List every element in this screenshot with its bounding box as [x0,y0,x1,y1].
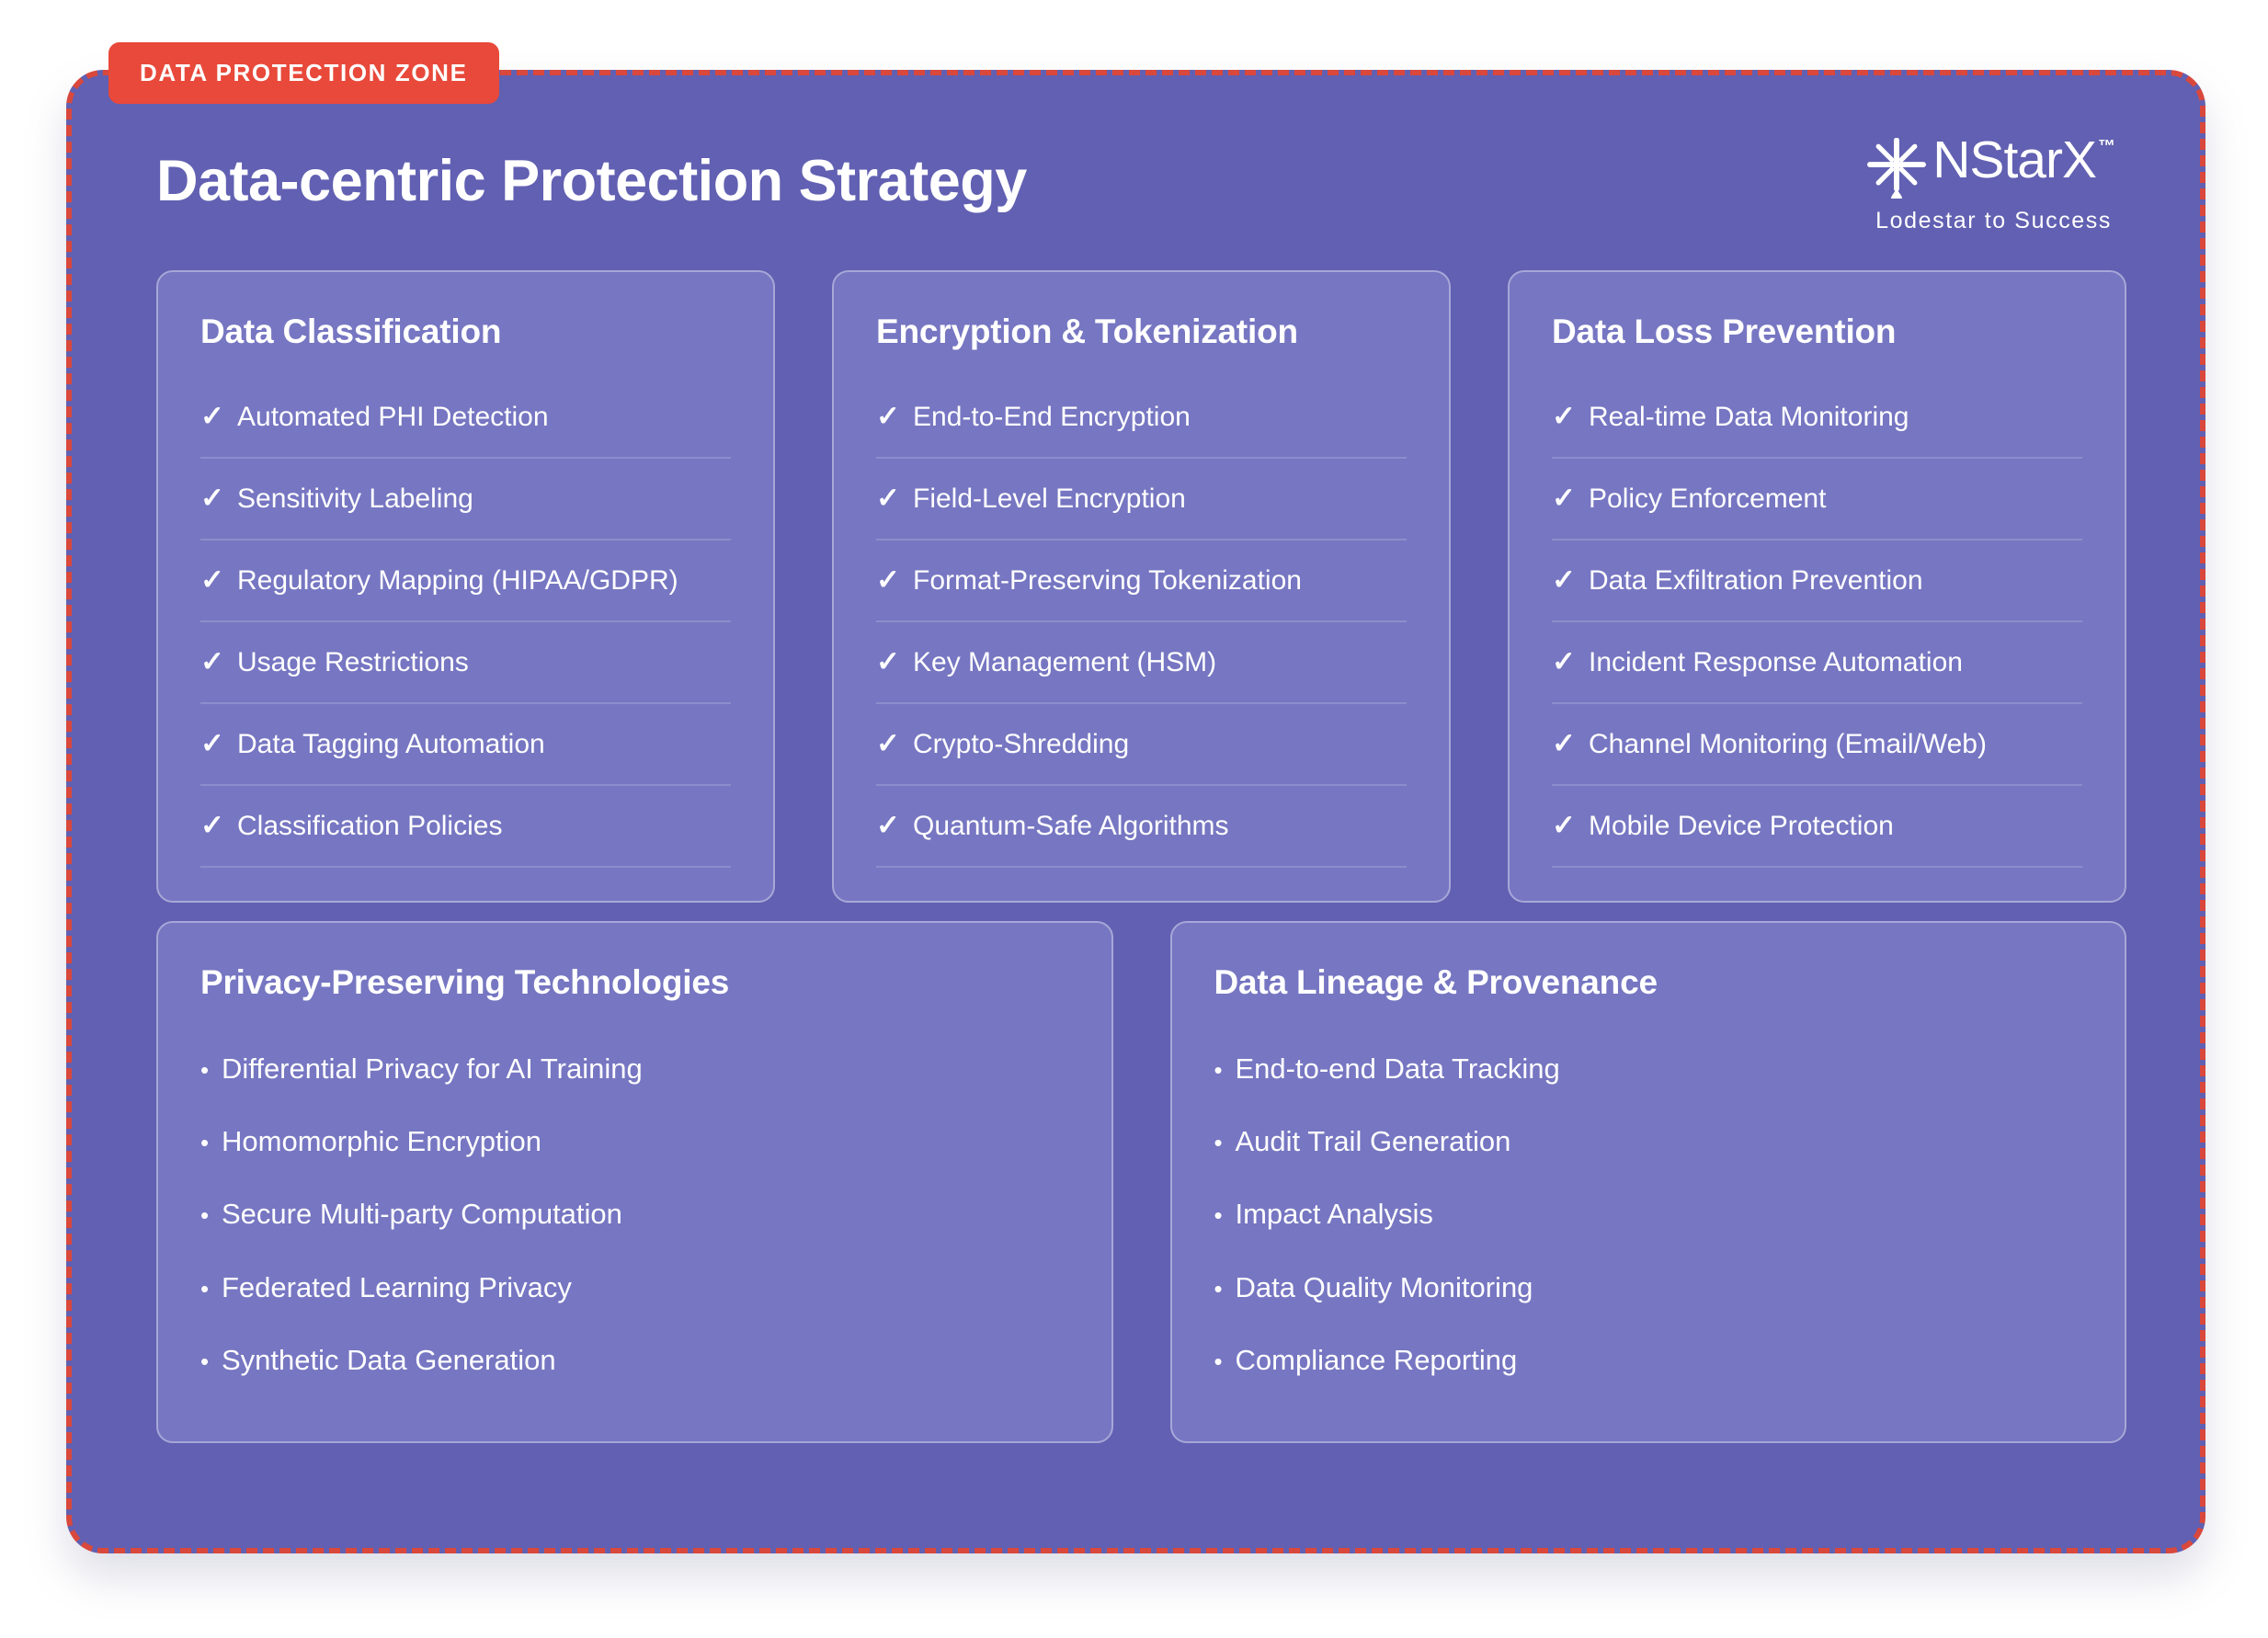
list-item: ✓ Field-Level Encryption [876,481,1407,540]
list-item-label: Real-time Data Monitoring [1589,401,1909,434]
list-item: • Homomorphic Encryption [200,1124,1069,1158]
bullet-icon: • [200,1058,222,1082]
list-item-label: Incident Response Automation [1589,646,1963,679]
droplet-icon [1891,188,1902,199]
check-icon: ✓ [200,726,237,760]
check-icon: ✓ [1552,399,1589,433]
check-icon: ✓ [200,481,237,515]
bullet-icon: • [1214,1349,1236,1373]
check-icon: ✓ [876,481,913,515]
check-icon: ✓ [876,563,913,597]
list-item-label: End-to-End Encryption [913,401,1191,434]
list-item-label: Format-Preserving Tokenization [913,564,1302,597]
starburst-icon [1866,138,1927,199]
bottom-card-grid: Privacy-Preserving Technologies • Differ… [156,921,2126,1443]
list-item: ✓ Usage Restrictions [200,644,731,704]
list-item: • End-to-end Data Tracking [1214,1052,2083,1086]
feature-list: ✓ Real-time Data Monitoring ✓ Policy Enf… [1552,399,2082,868]
list-item-label: Field-Level Encryption [913,483,1186,516]
logo-wordmark-row: NStarX ™ [1866,134,2115,199]
card-title: Data Loss Prevention [1552,313,2082,351]
card-title: Data Classification [200,313,731,351]
check-icon: ✓ [200,399,237,433]
list-item: ✓ Format-Preserving Tokenization [876,563,1407,622]
list-item: ✓ Classification Policies [200,808,731,868]
list-item: ✓ Quantum-Safe Algorithms [876,808,1407,868]
bullet-icon: • [200,1277,222,1301]
list-item-label: Regulatory Mapping (HIPAA/GDPR) [237,564,678,597]
list-item: ✓ Policy Enforcement [1552,481,2082,540]
list-item-label: Classification Policies [237,810,502,843]
list-item: ✓ Automated PHI Detection [200,399,731,459]
list-item: ✓ Data Exfiltration Prevention [1552,563,2082,622]
list-item-label: Federated Learning Privacy [222,1270,572,1304]
bullet-icon: • [200,1131,222,1155]
card-data-lineage-provenance: Data Lineage & Provenance • End-to-end D… [1170,921,2127,1443]
list-item-label: Key Management (HSM) [913,646,1216,679]
check-icon: ✓ [1552,726,1589,760]
list-item-label: Policy Enforcement [1589,483,1826,516]
list-item-label: Synthetic Data Generation [222,1343,556,1377]
bullet-icon: • [1214,1131,1236,1155]
logo-tagline: Lodestar to Success [1875,208,2112,234]
list-item-label: Compliance Reporting [1236,1343,1518,1377]
list-item-label: End-to-end Data Tracking [1236,1052,1560,1086]
list-item: ✓ Real-time Data Monitoring [1552,399,2082,459]
check-icon: ✓ [876,399,913,433]
feature-list: ✓ End-to-End Encryption ✓ Field-Level En… [876,399,1407,868]
list-item-label: Mobile Device Protection [1589,810,1894,843]
bullet-icon: • [200,1349,222,1373]
list-item-label: Quantum-Safe Algorithms [913,810,1229,843]
list-item: ✓ Crypto-Shredding [876,726,1407,786]
list-item: • Secure Multi-party Computation [200,1197,1069,1231]
list-item: • Differential Privacy for AI Training [200,1052,1069,1086]
list-item: ✓ Mobile Device Protection [1552,808,2082,868]
bullet-icon: • [1214,1203,1236,1227]
list-item-label: Channel Monitoring (Email/Web) [1589,728,1987,761]
page-title: Data-centric Protection Strategy [156,151,1027,211]
card-title: Encryption & Tokenization [876,313,1407,351]
check-icon: ✓ [1552,808,1589,842]
list-item: • Impact Analysis [1214,1197,2083,1231]
list-item-label: Audit Trail Generation [1236,1124,1511,1158]
top-card-grid: Data Classification ✓ Automated PHI Dete… [156,270,2126,903]
feature-list: ✓ Automated PHI Detection ✓ Sensitivity … [200,399,731,868]
check-icon: ✓ [876,808,913,842]
bullet-list: • End-to-end Data Tracking • Audit Trail… [1214,1052,2083,1377]
logo-wordmark: NStarX [1932,134,2096,187]
check-icon: ✓ [1552,644,1589,678]
list-item-label: Impact Analysis [1236,1197,1433,1231]
bullet-icon: • [1214,1058,1236,1082]
list-item: • Data Quality Monitoring [1214,1270,2083,1304]
card-data-classification: Data Classification ✓ Automated PHI Dete… [156,270,775,903]
card-title: Data Lineage & Provenance [1214,963,2083,1002]
list-item-label: Automated PHI Detection [237,401,549,434]
list-item: • Synthetic Data Generation [200,1343,1069,1377]
data-protection-zone-panel: Data-centric Protection Strategy [66,70,2205,1553]
list-item: ✓ Sensitivity Labeling [200,481,731,540]
list-item: ✓ Key Management (HSM) [876,644,1407,704]
list-item: • Compliance Reporting [1214,1343,2083,1377]
list-item: • Audit Trail Generation [1214,1124,2083,1158]
bullet-list: • Differential Privacy for AI Training •… [200,1052,1069,1377]
list-item-label: Crypto-Shredding [913,728,1129,761]
check-icon: ✓ [876,644,913,678]
card-data-loss-prevention: Data Loss Prevention ✓ Real-time Data Mo… [1508,270,2126,903]
card-privacy-preserving-technologies: Privacy-Preserving Technologies • Differ… [156,921,1113,1443]
list-item-label: Homomorphic Encryption [222,1124,541,1158]
list-item-label: Usage Restrictions [237,646,469,679]
check-icon: ✓ [1552,481,1589,515]
check-icon: ✓ [1552,563,1589,597]
list-item: ✓ Incident Response Automation [1552,644,2082,704]
list-item-label: Data Tagging Automation [237,728,545,761]
list-item-label: Data Quality Monitoring [1236,1270,1533,1304]
panel-header: Data-centric Protection Strategy [72,75,2200,287]
check-icon: ✓ [200,644,237,678]
check-icon: ✓ [876,726,913,760]
trademark-symbol: ™ [2098,138,2115,155]
card-title: Privacy-Preserving Technologies [200,963,1069,1002]
list-item: ✓ Regulatory Mapping (HIPAA/GDPR) [200,563,731,622]
list-item-label: Sensitivity Labeling [237,483,473,516]
list-item-label: Secure Multi-party Computation [222,1197,622,1231]
check-icon: ✓ [200,563,237,597]
bullet-icon: • [200,1203,222,1227]
list-item: • Federated Learning Privacy [200,1270,1069,1304]
card-encryption-tokenization: Encryption & Tokenization ✓ End-to-End E… [832,270,1451,903]
list-item: ✓ Channel Monitoring (Email/Web) [1552,726,2082,786]
list-item: ✓ End-to-End Encryption [876,399,1407,459]
list-item: ✓ Data Tagging Automation [200,726,731,786]
list-item-label: Differential Privacy for AI Training [222,1052,643,1086]
nstarx-logo: NStarX ™ Lodestar to Success [1866,129,2115,234]
infographic-stage: Data-centric Protection Strategy [0,0,2268,1638]
check-icon: ✓ [200,808,237,842]
bullet-icon: • [1214,1277,1236,1301]
list-item-label: Data Exfiltration Prevention [1589,564,1923,597]
status-badge: DATA PROTECTION ZONE [108,42,499,104]
